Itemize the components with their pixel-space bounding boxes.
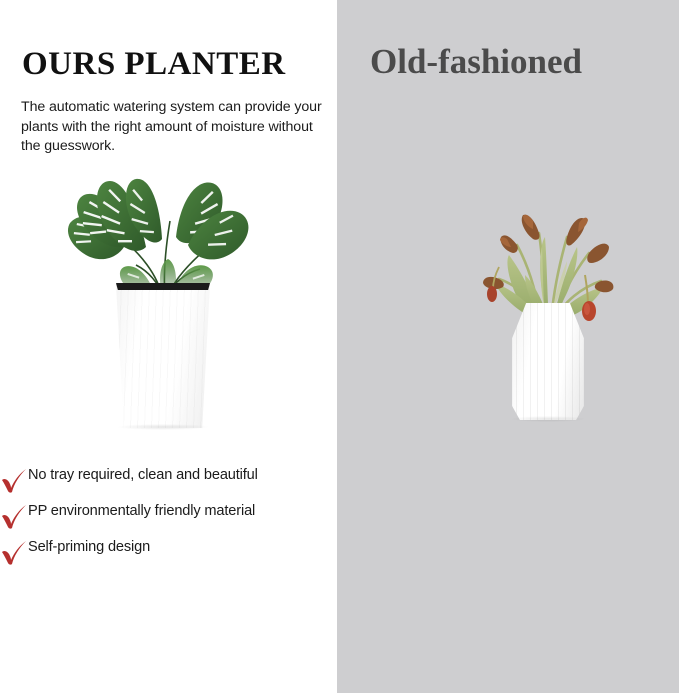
vase-illustration — [455, 175, 645, 435]
old-fashioned-product-image — [337, 175, 679, 440]
vase-shadow — [511, 416, 585, 422]
benefit-text: PP environmentally friendly material — [28, 502, 255, 522]
check-icon — [4, 502, 28, 535]
planter-rim — [115, 283, 211, 290]
planter-shadow — [118, 424, 208, 430]
list-item: PP environmentally friendly material — [4, 502, 324, 535]
wilted-flowers-icon — [455, 175, 645, 325]
check-icon — [4, 466, 28, 499]
list-item: Self-priming design — [4, 538, 324, 571]
list-item: No tray required, clean and beautiful — [4, 466, 324, 499]
ours-title: OURS PLANTER — [22, 48, 286, 81]
panel-old-fashioned: Old-fashioned — [337, 0, 679, 693]
benefit-text: No tray required, clean and beautiful — [28, 466, 258, 486]
benefits-list: No tray required, clean and beautiful PP… — [4, 466, 324, 574]
check-icon — [4, 538, 28, 571]
ours-product-image — [0, 175, 337, 440]
comparison-infographic: OURS PLANTER The automatic watering syst… — [0, 0, 679, 693]
benefit-text: Self-priming design — [28, 538, 150, 558]
planter-illustration — [62, 175, 272, 435]
planter-ribbing — [114, 284, 212, 428]
monstera-plant-icon — [62, 175, 272, 300]
panel-ours: OURS PLANTER The automatic watering syst… — [0, 0, 337, 693]
vase-fluting — [509, 303, 587, 420]
old-fashioned-title: Old-fashioned — [370, 44, 582, 79]
ours-description: The automatic watering system can provid… — [21, 98, 333, 157]
